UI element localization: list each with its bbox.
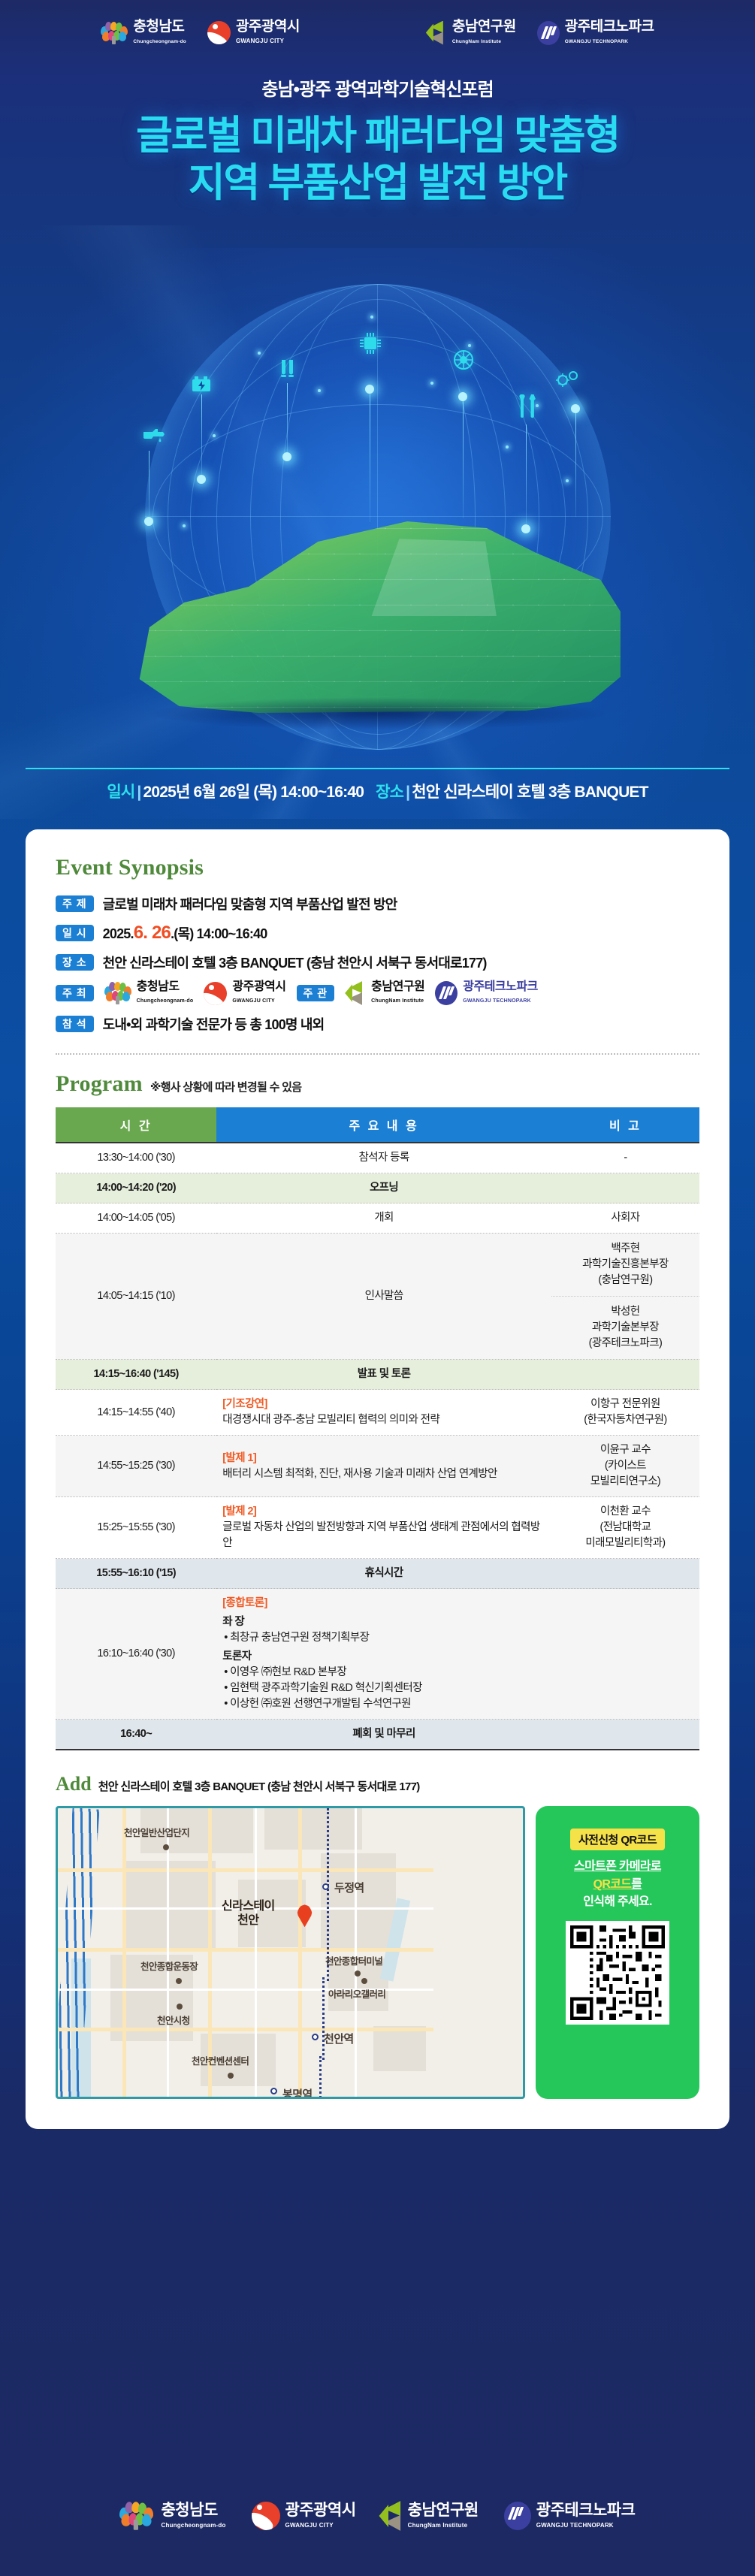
wheel-icon — [453, 349, 474, 370]
datetime-prefix: 2025. — [103, 926, 134, 941]
logo-chungcheongnam-do: 충청남도 Chungcheongnam-do — [101, 20, 186, 46]
map-block — [125, 1861, 216, 1951]
map-label-bongmyeong-station: 봉명역 — [282, 2086, 313, 2099]
footer-logo-chungnam-institute: 충남연구원 ChungNam Institute — [382, 2502, 479, 2530]
map-railway — [319, 2056, 322, 2099]
table-row: 14:15~16:40 ('145) 발표 및 토론 — [56, 1360, 699, 1390]
table-row: 14:00~14:20 ('20) 오프닝 — [56, 1173, 699, 1203]
speaker-name: 백주현 — [611, 1243, 639, 1255]
map-road — [167, 1808, 169, 2099]
footer-logo-chungcheongnam-do: 충청남도 Chungcheongnam-do — [119, 2502, 225, 2530]
logo-label-kr: 충남연구원 — [408, 2502, 479, 2519]
panelist-name: 이영우 ㈜현보 R&D 본부장 — [222, 1665, 545, 1681]
chungnam-institute-ci-icon — [379, 2501, 405, 2531]
logo-label-en: ChungNam Institute — [371, 998, 424, 1004]
host-logo-chungcheongnam-do: 충청남도 Chungcheongnam-do — [104, 981, 194, 1005]
synopsis-row-datetime: 일 시 2025.6. 26.(목) 14:00~16:40 — [56, 923, 699, 944]
subject-value: 글로벌 미래차 패러다임 맞춤형 지역 부품산업 발전 방안 — [103, 894, 397, 914]
map-label-dujeong-station: 두정역 — [334, 1880, 364, 1895]
place-label: 장소 — [376, 784, 403, 801]
logo-label-en: GWANGJU CITY — [232, 998, 274, 1004]
logo-label-kr: 충청남도 — [137, 980, 180, 993]
map-station-dot — [312, 2034, 319, 2040]
tag-subject: 주 제 — [56, 895, 94, 912]
logo-label-kr: 광주테크노파크 — [536, 2502, 636, 2519]
cell-content: [발제 1] 배터리 시스템 최적화, 진단, 재사용 기술과 미래차 산업 연… — [216, 1436, 551, 1497]
synopsis-row-attendees: 참 석 도내•외 과학기술 전문가 등 총 100명 내외 — [56, 1014, 699, 1034]
synopsis-list: 주 제 글로벌 미래차 패러다임 맞춤형 지역 부품산업 발전 방안 일 시 2… — [56, 894, 699, 1034]
cell-remark: 이항구 전문위원 (한국자동차연구원) — [551, 1390, 699, 1436]
table-row: 14:15~14:55 ('40) [기조강연] 대경쟁시대 광주-충남 모빌리… — [56, 1390, 699, 1436]
map-road — [255, 1808, 257, 2099]
logo-label-kr: 충청남도 — [161, 2502, 217, 2519]
logo-label-kr: 광주광역시 — [232, 980, 285, 993]
gwangju-city-ci-icon — [252, 2502, 280, 2530]
map-block — [264, 1808, 362, 1850]
table-row: 14:55~15:25 ('30) [발제 1] 배터리 시스템 최적화, 진단… — [56, 1436, 699, 1497]
logo-label-en: ChungNam Institute — [452, 39, 501, 44]
logo-label-en: Chungcheongnam-do — [137, 998, 194, 1004]
hotspot-stalk — [526, 424, 527, 530]
map-station-dot — [270, 2088, 277, 2094]
chungcheongnam-do-ci-icon — [104, 982, 131, 1004]
logo-label-kr: 광주테크노파크 — [463, 980, 538, 993]
logo-label-en: GWANGJU TECHNOPARK — [565, 39, 628, 44]
logo-label-en: GWANGJU TECHNOPARK — [536, 2522, 614, 2529]
hotspot-stalk — [370, 391, 370, 522]
cell-time: 14:15~14:55 ('40) — [56, 1390, 216, 1436]
column-header-time: 시 간 — [56, 1107, 216, 1143]
logo-gwangju-technopark: 광주테크노파크 GWANGJU TECHNOPARK — [537, 20, 654, 46]
tag-attendees: 참 석 — [56, 1016, 94, 1032]
logo-label-en: ChungNam Institute — [408, 2522, 468, 2529]
cell-time: 15:25~15:55 ('30) — [56, 1497, 216, 1559]
speaker-org: (전남대학교 미래모빌리티학과) — [585, 1521, 665, 1549]
cell-time: 16:40~ — [56, 1720, 216, 1750]
map-label-city-hall: 천안시청 — [157, 2013, 190, 2027]
chip-icon — [359, 332, 382, 355]
logo-label-kr: 충청남도 — [133, 19, 184, 35]
attendees-value: 도내•외 과학기술 전문가 등 총 100명 내외 — [103, 1014, 325, 1034]
hero-section: 충청남도 Chungcheongnam-do 광주광역시 GWANGJU CIT… — [0, 0, 755, 819]
speaker-org: (한국자동차연구원) — [584, 1414, 666, 1426]
cell-time: 13:30~14:00 ('30) — [56, 1143, 216, 1173]
cell-remark: - — [551, 1143, 699, 1173]
organizer-logo-chungnam-institute: 충남연구원 ChungNam Institute — [345, 981, 424, 1005]
map-road — [58, 1948, 433, 1952]
cell-content: 오프닝 — [216, 1173, 551, 1203]
qr-code-image[interactable] — [566, 1921, 669, 2025]
hotspot-stalk — [287, 383, 288, 458]
venue-label-line-2: 천안 — [237, 1914, 258, 1927]
logo-label-kr: 충남연구원 — [452, 19, 516, 35]
date-label: 일시 — [107, 784, 134, 801]
cell-content: [발제 2] 글로벌 자동차 산업의 발전방향과 지역 부품산업 생태계 관점에… — [216, 1497, 551, 1559]
gears-icon — [556, 370, 581, 388]
map-label-arario-gallery: 아라리오갤러리 — [328, 1986, 385, 2001]
column-header-remark: 비 고 — [551, 1107, 699, 1143]
qr-instruction-highlight: QR코드 — [593, 1878, 632, 1891]
logo-label-kr: 광주광역시 — [285, 2502, 356, 2519]
battery-icon — [192, 376, 211, 392]
address-header: Add 천안 신라스테이 호텔 3층 BANQUET (충남 천안시 서북구 동… — [56, 1773, 699, 1795]
tag-host: 주 최 — [56, 985, 94, 1001]
cell-time: 14:15~16:40 ('145) — [56, 1360, 216, 1390]
cell-content: 발표 및 토론 — [216, 1360, 551, 1390]
logo-label-en: GWANGJU TECHNOPARK — [463, 998, 531, 1004]
cell-content: 휴식시간 — [216, 1559, 551, 1589]
program-note: ※행사 상황에 따라 변경될 수 있음 — [150, 1079, 302, 1095]
qr-instruction-line-1: 스마트폰 카메라로 — [574, 1860, 661, 1873]
cell-remark — [551, 1720, 699, 1750]
cell-time: 16:10~16:40 ('30) — [56, 1589, 216, 1720]
qr-instructions: 스마트폰 카메라로 QR코드를 인식해 주세요. — [549, 1858, 686, 1910]
hotspot-node — [282, 452, 291, 461]
datetime-highlight: 6. 26 — [134, 923, 171, 943]
qr-instruction-line-3: 인식해 주세요. — [583, 1895, 652, 1908]
tag-place: 장 소 — [56, 954, 94, 971]
session-type: [종합토론] — [222, 1596, 545, 1611]
table-row: 16:40~ 폐회 및 마무리 — [56, 1720, 699, 1750]
chair-name: 최창규 충남연구원 정책기획부장 — [222, 1630, 545, 1646]
cell-time: 15:55~16:10 ('15) — [56, 1559, 216, 1589]
map-label-venue: 신라스테이 천안 — [222, 1900, 275, 1928]
qr-badge: 사전신청 QR코드 — [570, 1829, 665, 1850]
gwangju-city-ci-icon — [207, 21, 231, 44]
venue-map[interactable]: 천안일반산업단지 두정역 신라스테이 천안 천안종합터미널 아라리오갤러리 천안… — [56, 1806, 525, 2099]
event-title: 글로벌 미래차 패러다임 맞춤형 지역 부품산업 발전 방안 — [0, 113, 755, 207]
date-value: 2025년 6월 26일 (목) 14:00~16:40 — [143, 784, 364, 801]
venue-label-line-1: 신라스테이 — [222, 1900, 275, 1913]
speaker-title: 과학기술본부장 — [592, 1321, 659, 1333]
cell-time: 14:00~14:20 ('20) — [56, 1173, 216, 1203]
hotspot-stalk — [201, 394, 202, 481]
cell-content: [종합토론] 좌 장 최창규 충남연구원 정책기획부장 토론자 이영우 ㈜현보 … — [216, 1589, 551, 1720]
map-road — [58, 1868, 433, 1872]
hotspot-node — [365, 385, 374, 394]
logo-label-en: Chungcheongnam-do — [133, 39, 186, 44]
gwangju-technopark-ci-icon — [504, 2502, 531, 2530]
chungnam-institute-ci-icon — [345, 981, 366, 1005]
map-boundary-hatch — [56, 1808, 100, 2100]
chungcheongnam-do-ci-icon — [101, 22, 128, 44]
brake-pad-icon — [279, 359, 296, 379]
qr-instruction-line-2: 를 — [631, 1878, 642, 1891]
cell-time: 14:55~15:25 ('30) — [56, 1436, 216, 1497]
cell-time: 14:00~14:05 ('05) — [56, 1203, 216, 1234]
cell-time: 14:05~14:15 ('10) — [56, 1234, 216, 1360]
map-road — [122, 1808, 126, 2099]
synopsis-row-hosts: 주 최 충청남도 — [56, 981, 699, 1005]
event-datetime-bar: 일시|2025년 6월 26일 (목) 14:00~16:40장소|천안 신라스… — [26, 768, 729, 819]
footer-logo-gwangju-technopark: 광주테크노파크 GWANGJU TECHNOPARK — [504, 2502, 636, 2530]
session-title: 배터리 시스템 최적화, 진단, 재사용 기술과 미래차 산업 연계방안 — [222, 1468, 497, 1480]
panel-heading: 토론자 — [222, 1649, 545, 1665]
chair-heading: 좌 장 — [222, 1614, 545, 1630]
speaker-org: (카이스트 모빌리티연구소) — [590, 1460, 660, 1487]
map-railway — [322, 1977, 325, 2060]
event-kicker: 충남•광주 광역과학기술혁신포럼 — [0, 74, 755, 101]
table-row: 14:05~14:15 ('10) 인사말씀 백주현 과학기술진흥본부장 (충남… — [56, 1234, 699, 1360]
program-header: Program ※행사 상황에 따라 변경될 수 있음 — [56, 1071, 699, 1097]
column-header-content: 주 요 내 용 — [216, 1107, 551, 1143]
cell-content: 폐회 및 마무리 — [216, 1720, 551, 1750]
gwangju-city-ci-icon — [204, 982, 227, 1005]
tag-datetime: 일 시 — [56, 925, 94, 941]
speaker-org: (광주테크노파크) — [589, 1337, 663, 1349]
session-type: [발제 1] — [222, 1451, 545, 1466]
table-row: 15:25~15:55 ('30) [발제 2] 글로벌 자동차 산업의 발전방… — [56, 1497, 699, 1559]
logo-label-en: GWANGJU CITY — [285, 2522, 334, 2529]
footer-logo-strip: 충청남도 Chungcheongnam-do 광주광역시 GWANGJU CIT… — [0, 2456, 755, 2576]
synopsis-header: Event Synopsis — [56, 855, 699, 880]
section-divider — [56, 1053, 699, 1055]
cell-remark — [551, 1559, 699, 1589]
speaker-name: 이천환 교수 — [600, 1505, 651, 1518]
speaker-name: 이윤구 교수 — [600, 1444, 651, 1456]
car-shadow — [145, 697, 611, 730]
cell-remark: 이윤구 교수 (카이스트 모빌리티연구소) — [551, 1436, 699, 1497]
map-label-bus-terminal: 천안종합터미널 — [325, 1953, 382, 1967]
organizer-logo-gwangju-technopark: 광주테크노파크 GWANGJU TECHNOPARK — [435, 981, 538, 1005]
hotspot-node — [521, 524, 530, 533]
host-logo-gwangju-city: 광주광역시 GWANGJU CITY — [204, 981, 285, 1005]
synopsis-title: Event Synopsis — [56, 855, 204, 880]
chungcheongnam-do-ci-icon — [119, 2502, 153, 2530]
gwangju-technopark-ci-icon — [435, 981, 458, 1005]
map-road — [58, 2028, 433, 2031]
map-road — [298, 1808, 302, 2099]
table-row: 14:00~14:05 ('05) 개회 사회자 — [56, 1203, 699, 1234]
event-poster: 충청남도 Chungcheongnam-do 광주광역시 GWANGJU CIT… — [0, 0, 755, 2576]
map-label-sports-complex: 천안종합운동장 — [140, 1958, 198, 1973]
cell-remark: 이천환 교수 (전남대학교 미래모빌리티학과) — [551, 1497, 699, 1559]
oil-can-icon — [143, 424, 165, 444]
logo-gwangju-city: 광주광역시 GWANGJU CITY — [207, 20, 300, 46]
place-value: 천안 신라스테이 호텔 3층 BANQUET (충남 천안시 서북구 동서대로1… — [103, 953, 487, 972]
map-block — [373, 2026, 426, 2071]
table-header-row: 시 간 주 요 내 용 비 고 — [56, 1107, 699, 1143]
synopsis-row-subject: 주 제 글로벌 미래차 패러다임 맞춤형 지역 부품산업 발전 방안 — [56, 894, 699, 914]
hero-artwork — [0, 278, 755, 759]
address-value: 천안 신라스테이 호텔 3층 BANQUET (충남 천안시 서북구 동서대로 … — [98, 1778, 420, 1794]
logo-label-kr: 광주광역시 — [236, 19, 300, 35]
qr-registration-panel: 사전신청 QR코드 스마트폰 카메라로 QR코드를 인식해 주세요. — [536, 1806, 699, 2099]
logo-label-en: GWANGJU CITY — [236, 38, 284, 44]
table-row: 13:30~14:00 ('30) 참석자 등록 - — [56, 1143, 699, 1173]
cell-content: 참석자 등록 — [216, 1143, 551, 1173]
top-logo-strip: 충청남도 Chungcheongnam-do 광주광역시 GWANGJU CIT… — [0, 0, 755, 46]
place-value: 천안 신라스테이 호텔 3층 BANQUET — [412, 784, 648, 801]
program-title: Program — [56, 1071, 143, 1097]
hotspot-stalk — [149, 451, 149, 522]
table-row: 15:55~16:10 ('15) 휴식시간 — [56, 1559, 699, 1589]
session-type: [발제 2] — [222, 1504, 545, 1520]
wrench-screwdriver-icon — [518, 394, 538, 418]
hotspot-node — [144, 517, 153, 526]
logo-chungnam-institute: 충남연구원 ChungNam Institute — [426, 20, 516, 46]
hotspot-node — [458, 392, 467, 401]
speaker-name: 이항구 전문위원 — [590, 1398, 660, 1410]
table-row: 16:10~16:40 ('30) [종합토론] 좌 장 최창규 충남연구원 정… — [56, 1589, 699, 1720]
session-type: [기조강연] — [222, 1397, 545, 1412]
logo-label-kr: 광주테크노파크 — [565, 19, 654, 35]
address-title: Add — [56, 1773, 92, 1795]
event-title-line-1: 글로벌 미래차 패러다임 맞춤형 — [0, 113, 755, 160]
datetime-suffix: .(목) 14:00~16:40 — [171, 926, 267, 941]
panelist-name: 이상헌 ㈜호원 선행연구개발팀 수석연구원 — [222, 1696, 545, 1712]
logo-label-kr: 충남연구원 — [371, 980, 424, 993]
tag-organizer: 주 관 — [297, 985, 335, 1001]
cell-remark: 백주현 과학기술진흥본부장 (충남연구원) 박성헌 과학기술본부장 (광주테크노… — [551, 1234, 699, 1360]
map-and-qr: 천안일반산업단지 두정역 신라스테이 천안 천안종합터미널 아라리오갤러리 천안… — [56, 1806, 699, 2099]
speaker-org: (충남연구원) — [598, 1274, 652, 1286]
hotspot-node — [571, 404, 580, 413]
gwangju-technopark-ci-icon — [537, 21, 560, 45]
datetime-value: 2025.6. 26.(목) 14:00~16:40 — [103, 923, 267, 944]
cell-remark: 사회자 — [551, 1203, 699, 1234]
program-table: 시 간 주 요 내 용 비 고 13:30~14:00 ('30) 참석자 등록… — [56, 1107, 699, 1750]
logo-label-en: Chungcheongnam-do — [161, 2522, 225, 2529]
chungnam-institute-ci-icon — [426, 21, 447, 45]
cell-content: [기조강연] 대경쟁시대 광주-충남 모빌리티 협력의 의미와 전략 — [216, 1390, 551, 1436]
map-label-convention-center: 천안컨벤션센터 — [192, 2053, 249, 2067]
session-title: 대경쟁시대 광주-충남 모빌리티 협력의 의미와 전략 — [222, 1414, 439, 1426]
map-label-cheonan-station: 천안역 — [324, 2031, 354, 2046]
content-card: Event Synopsis 주 제 글로벌 미래차 패러다임 맞춤형 지역 부… — [26, 829, 729, 2129]
hotspot-stalk — [575, 412, 576, 517]
cell-content: 인사말씀 — [216, 1234, 551, 1360]
session-title: 글로벌 자동차 산업의 발전방향과 지역 부품산업 생태계 관점에서의 협력방안 — [222, 1521, 539, 1549]
panelist-name: 임현택 광주과학기술원 R&D 혁신기획센터장 — [222, 1681, 545, 1696]
map-label-industrial-complex: 천안일반산업단지 — [124, 1825, 189, 1839]
synopsis-row-place: 장 소 천안 신라스테이 호텔 3층 BANQUET (충남 천안시 서북구 동… — [56, 953, 699, 972]
speaker-name: 박성헌 — [611, 1306, 639, 1318]
speaker-title: 과학기술진흥본부장 — [582, 1258, 669, 1270]
cell-remark — [551, 1173, 699, 1203]
cell-content: 개회 — [216, 1203, 551, 1234]
event-title-line-2: 지역 부품산업 발전 방안 — [0, 160, 755, 207]
cell-remark — [551, 1589, 699, 1720]
footer-logo-gwangju-city: 광주광역시 GWANGJU CITY — [252, 2502, 356, 2530]
hotspot-stalk — [463, 398, 464, 518]
cell-remark — [551, 1360, 699, 1390]
hotspot-node — [197, 475, 206, 484]
